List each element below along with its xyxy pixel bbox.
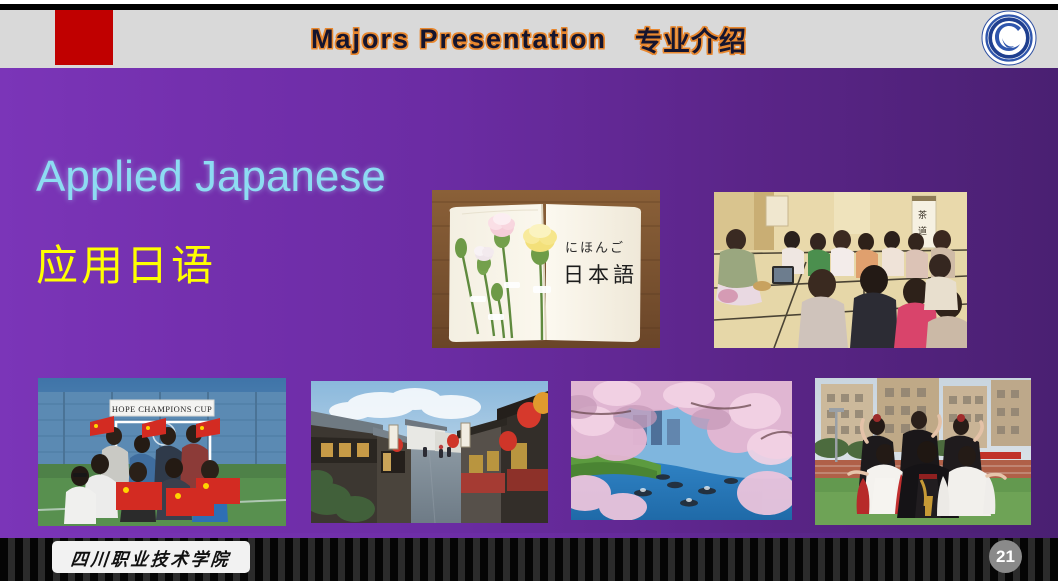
header-title: Majors Presentation 专业介绍 bbox=[0, 10, 1058, 68]
college-emblem-icon bbox=[981, 10, 1037, 66]
college-logo bbox=[981, 10, 1037, 66]
svg-text:にほんご: にほんご bbox=[565, 240, 625, 256]
school-name-plate: 四川职业技术学院 bbox=[52, 541, 250, 573]
svg-text:茶: 茶 bbox=[918, 209, 927, 221]
page-number-text: 21 bbox=[996, 547, 1015, 567]
photo-costume-group-sports-field bbox=[815, 378, 1031, 525]
svg-text:HOPE CHAMPIONS CUP: HOPE CHAMPIONS CUP bbox=[112, 404, 212, 414]
photo-tatami-class-art: 茶 道 bbox=[714, 192, 967, 348]
header-title-cn: 专业介绍 bbox=[635, 20, 747, 59]
photo-soccer-field-group-flags: HOPE CHAMPIONS CUP bbox=[38, 378, 286, 526]
photo-japanese-street-art bbox=[311, 381, 548, 523]
slide-title-english: Applied Japanese bbox=[36, 152, 386, 202]
photo-japanese-book-carnations-art: にほんご 日本語 bbox=[432, 190, 660, 348]
photo-japanese-book-carnations: にほんご 日本語 bbox=[432, 190, 660, 348]
photo-cherry-blossom-river bbox=[571, 381, 792, 520]
svg-text:日本語: 日本語 bbox=[563, 263, 638, 287]
photo-costume-group-art bbox=[815, 378, 1031, 525]
slide-title-chinese: 应用日语 bbox=[36, 232, 216, 293]
photo-tatami-tea-ceremony-class: 茶 道 bbox=[714, 192, 967, 348]
header-title-en: Majors Presentation bbox=[311, 24, 607, 55]
page-number-badge: 21 bbox=[989, 540, 1022, 573]
school-name-text: 四川职业技术学院 bbox=[70, 544, 233, 570]
footer-purple-edge bbox=[0, 533, 1058, 538]
photo-sakura-river-art bbox=[571, 381, 792, 520]
presentation-slide: Majors Presentation 专业介绍 Applied Japanes… bbox=[0, 0, 1058, 581]
photo-soccer-field-art: HOPE CHAMPIONS CUP bbox=[38, 378, 286, 526]
photo-japanese-old-street bbox=[311, 381, 548, 523]
